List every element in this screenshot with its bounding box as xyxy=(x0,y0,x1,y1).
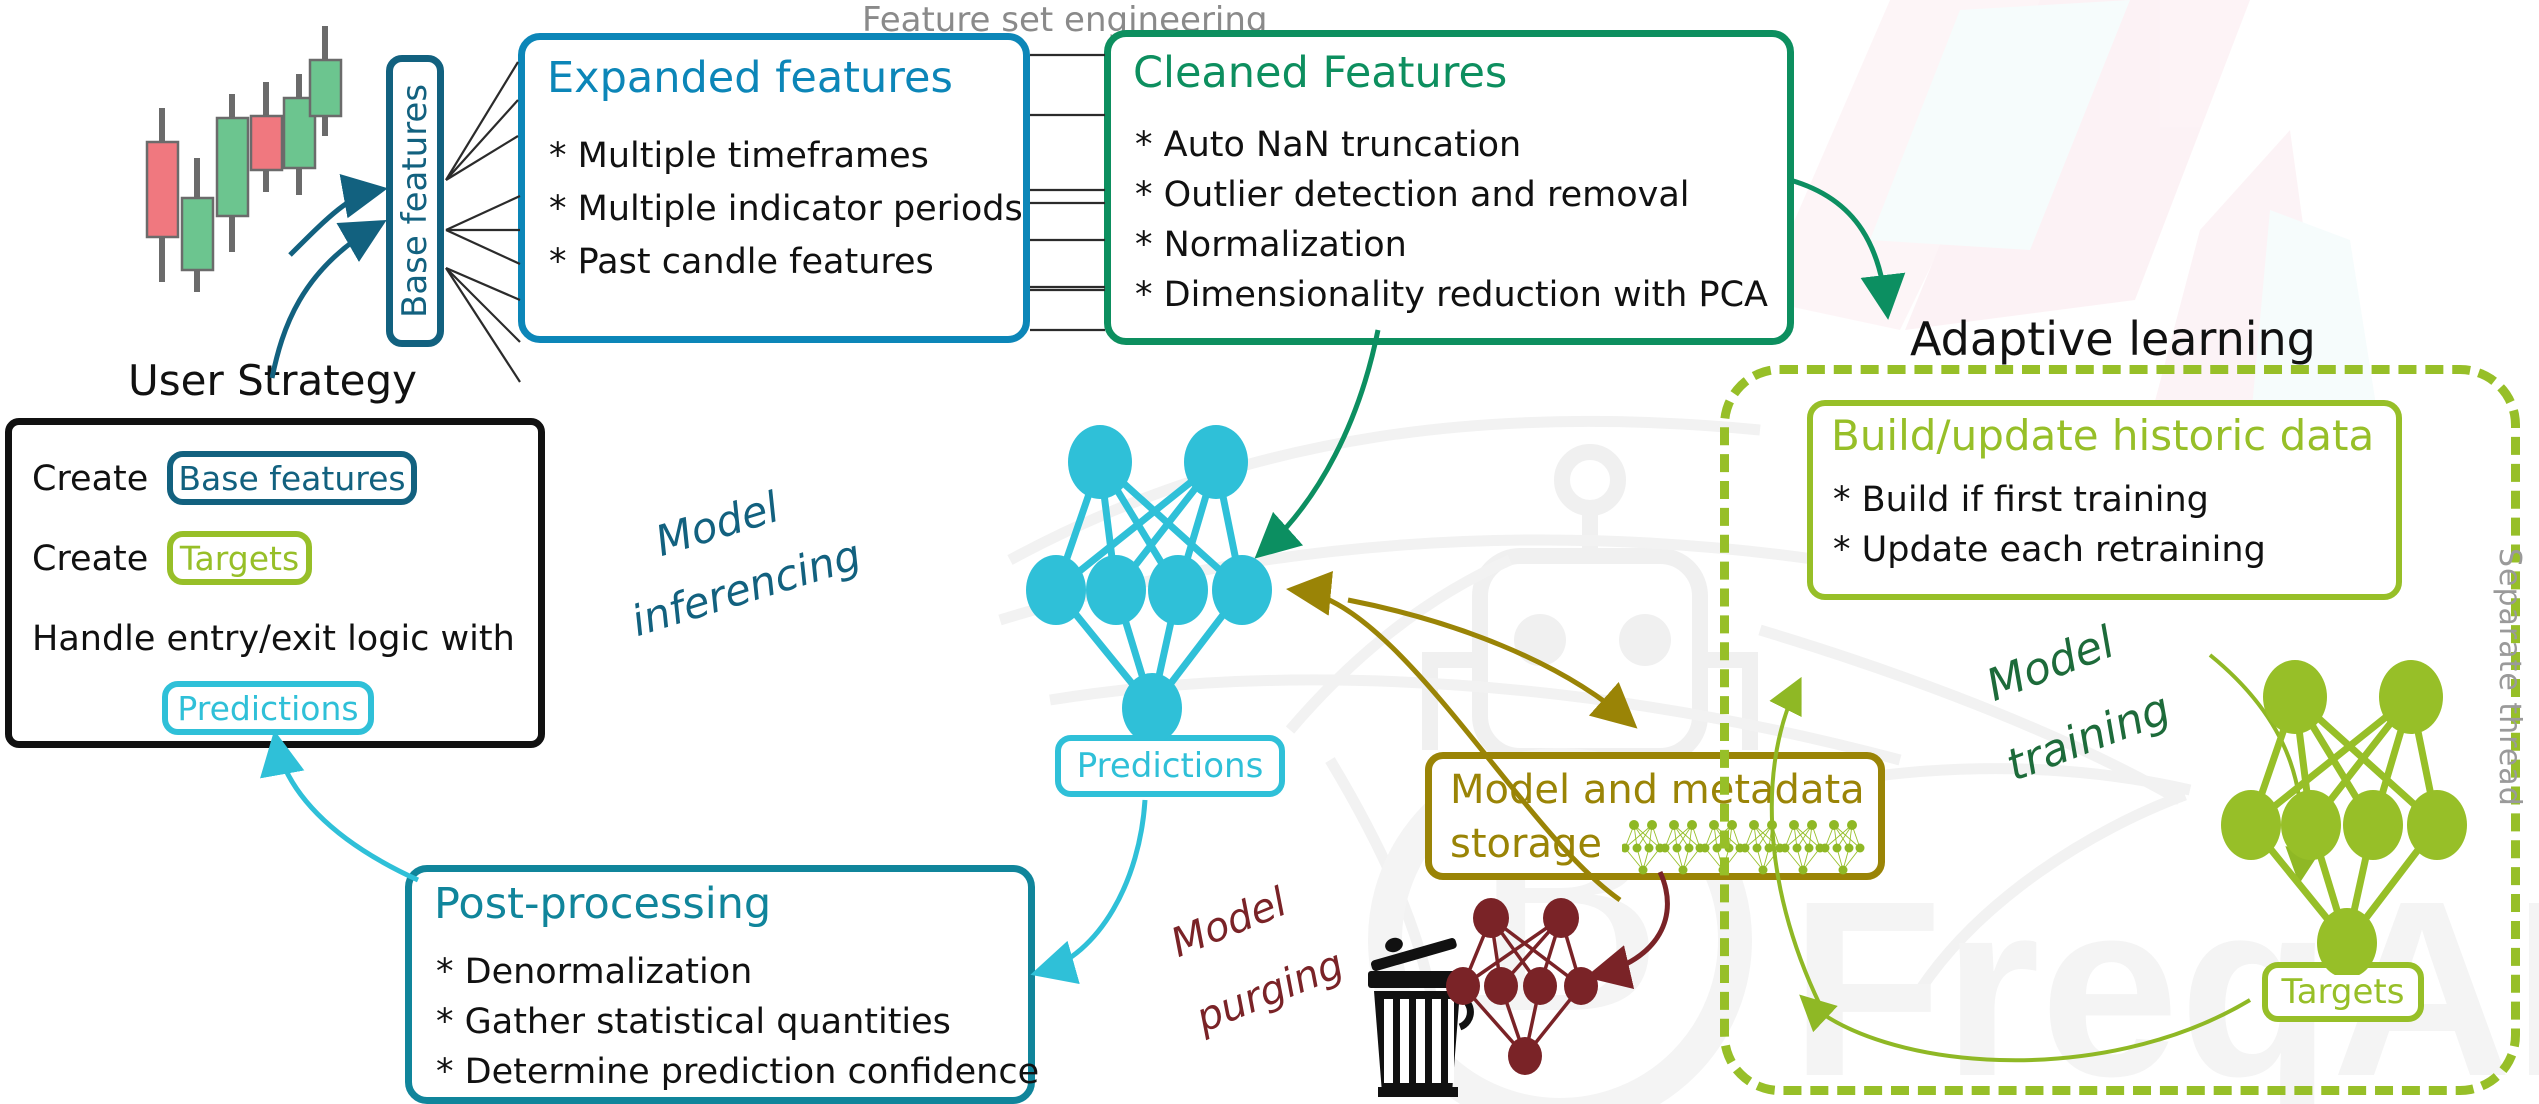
box-post-processing-title: Post-processing xyxy=(434,882,771,927)
arrow-predictions-to-postprocessing xyxy=(1040,800,1145,972)
diagram-canvas: B FreqAI xyxy=(0,0,2539,1104)
pill-base-features-vertical[interactable]: Base features xyxy=(386,55,444,347)
box-cleaned-features-bullet-3: * Dimensionality reduction with PCA xyxy=(1135,273,1768,318)
user-strategy-create-1-label: Create xyxy=(32,457,148,502)
box-post-processing[interactable]: Post-processing * Denormalization * Gath… xyxy=(405,865,1035,1104)
box-expanded-features-bullet-2: * Past candle features xyxy=(549,240,934,285)
candle-6 xyxy=(310,26,341,136)
box-build-update-bullet-1: * Update each retraining xyxy=(1833,528,2266,573)
model-purging-label-line1: Model xyxy=(1165,880,1293,967)
box-cleaned-features-bullet-1: * Outlier detection and removal xyxy=(1135,173,1690,218)
purged-network-nodes xyxy=(1446,898,1598,1075)
ladder-expanded-to-cleaned xyxy=(1030,55,1105,330)
watermark-triangle-teal-1 xyxy=(1870,0,2130,250)
box-post-processing-bullet-2: * Determine prediction confidence xyxy=(436,1050,1039,1095)
box-post-processing-bullet-0: * Denormalization xyxy=(436,950,752,995)
training-neural-network xyxy=(2215,655,2515,975)
box-cleaned-features-bullet-0: * Auto NaN truncation xyxy=(1135,123,1521,168)
purged-neural-network xyxy=(1443,890,1633,1090)
box-expanded-features-title: Expanded features xyxy=(547,56,953,101)
box-expanded-features-bullet-1: * Multiple indicator periods xyxy=(549,187,1023,232)
box-cleaned-features-bullet-2: * Normalization xyxy=(1135,223,1407,268)
box-build-update-historic-data[interactable]: Build/update historic data * Build if fi… xyxy=(1807,400,2402,600)
fanout-base-to-expanded xyxy=(446,62,520,382)
candle-1 xyxy=(147,108,178,282)
user-strategy-create-2-label: Create xyxy=(32,537,148,582)
adaptive-learning-label: Adaptive learning xyxy=(1910,312,2316,366)
box-storage-line2: storage xyxy=(1450,821,1602,867)
arrow-cleaned-to-adaptive-learning xyxy=(1790,180,1887,310)
box-expanded-features-bullet-0: * Multiple timeframes xyxy=(549,134,929,179)
purged-network-edges xyxy=(1463,918,1581,1056)
box-cleaned-features[interactable]: Cleaned Features * Auto NaN truncation *… xyxy=(1104,30,1794,345)
arrow-inference-to-storage xyxy=(1348,600,1630,722)
box-cleaned-features-title: Cleaned Features xyxy=(1133,51,1507,96)
watermark-triangle-pink-2 xyxy=(1905,0,2250,330)
user-strategy-handle-label: Handle entry/exit logic with xyxy=(32,617,515,662)
pill-predictions-inference[interactable]: Predictions xyxy=(1055,735,1285,797)
box-expanded-features[interactable]: Expanded features * Multiple timeframes … xyxy=(518,33,1030,343)
watermark-triangle-pink-1 xyxy=(1760,0,2060,330)
box-user-strategy[interactable]: Create Base features Create Targets Hand… xyxy=(5,418,545,748)
candlestick-chart-last-candle xyxy=(295,20,375,160)
pill-predictions-strategy[interactable]: Predictions xyxy=(162,681,374,735)
model-purging-label-line2: purging xyxy=(1190,942,1350,1041)
box-build-update-bullet-0: * Build if first training xyxy=(1833,478,2209,523)
inference-neural-network xyxy=(1020,420,1320,740)
box-build-update-title: Build/update historic data xyxy=(1831,414,2374,458)
inference-network-nodes xyxy=(1026,425,1272,740)
model-inferencing-label-line1: Model xyxy=(650,483,784,565)
box-post-processing-bullet-1: * Gather statistical quantities xyxy=(436,1000,951,1045)
arrow-postprocessing-to-strategy xyxy=(276,740,418,880)
training-network-nodes xyxy=(2221,660,2467,975)
user-strategy-label: User Strategy xyxy=(128,356,417,405)
candle-4 xyxy=(251,82,282,192)
candle-2 xyxy=(182,158,213,292)
pill-targets-strategy[interactable]: Targets xyxy=(167,531,312,585)
candle-3 xyxy=(217,94,248,252)
pill-base-features-strategy[interactable]: Base features xyxy=(167,451,417,505)
